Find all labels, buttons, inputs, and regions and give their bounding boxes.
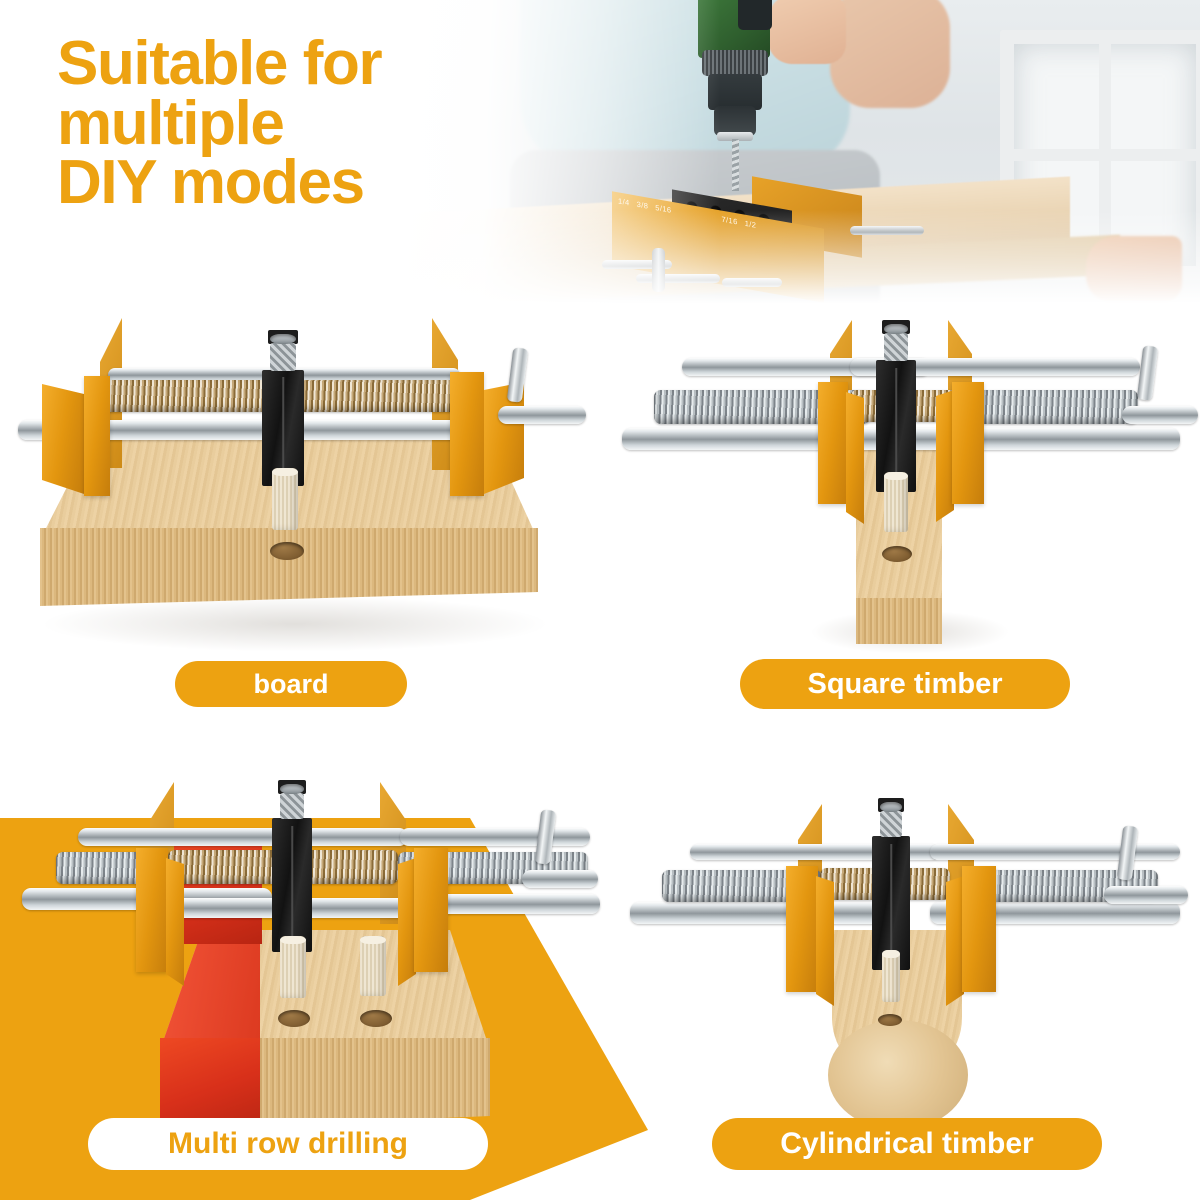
label-square-timber[interactable]: Square timber: [740, 659, 1070, 709]
log-end-grain: [828, 1020, 968, 1130]
headline-line-2: multiple: [57, 94, 597, 154]
guide-rod-upper-right: [400, 828, 590, 846]
wooden-dowel-1: [280, 936, 306, 998]
jig-render-multi-row: [0, 770, 600, 1170]
board-front-edge: [18, 528, 538, 606]
clamp-handle: [507, 347, 528, 402]
clamp-jaw-left-inner: [166, 858, 184, 986]
guide-rod-upper: [78, 828, 408, 846]
jig-render-cylindrical: [600, 770, 1200, 1170]
label-board[interactable]: board: [175, 661, 407, 707]
photo-person-hand: [768, 0, 846, 64]
clamp-jaw-left: [786, 866, 818, 992]
guide-rod-lower-left: [630, 902, 880, 924]
handle-shaft: [522, 870, 598, 888]
clamp-jaw-left-inner: [84, 376, 110, 496]
clamp-jaw-left-inner: [846, 392, 864, 524]
clamp-jaw-left: [42, 384, 84, 494]
guide-rod-upper-right: [930, 844, 1180, 860]
drilled-hole: [878, 1014, 902, 1026]
panel-square-timber: [600, 310, 1200, 710]
guide-bushing: [884, 333, 908, 361]
handle-shaft: [1104, 886, 1188, 904]
board-shadow: [40, 596, 550, 652]
clamp-jaw-left-inner: [816, 876, 834, 1006]
guide-bushing: [270, 343, 296, 371]
wooden-dowel-2: [360, 936, 386, 996]
guide-bushing: [880, 811, 902, 837]
wooden-dowel: [272, 468, 298, 530]
clamp-jaw-right: [962, 866, 996, 992]
clamp-handle: [1137, 345, 1158, 400]
drilled-hole: [270, 542, 304, 560]
drill-bit: [732, 139, 739, 191]
clamp-jaw-right: [952, 382, 984, 504]
headline-line-3: DIY modes: [57, 153, 597, 213]
jig-render-board: [0, 310, 600, 650]
clamp-jaw-right-inner: [450, 372, 484, 496]
wooden-dowel: [882, 950, 900, 1002]
wooden-dowel: [884, 472, 908, 532]
label-cylindrical-timber[interactable]: Cylindrical timber: [712, 1118, 1102, 1170]
drilled-hole-2: [360, 1010, 392, 1027]
infographic-canvas: 1/4 3/8 5/16 7/16 1/2 Suitable for multi…: [0, 0, 1200, 1200]
headline-line-1: Suitable for: [57, 34, 597, 94]
page-title: Suitable for multiple DIY modes: [57, 34, 597, 213]
jig-render-square-timber: [600, 310, 1200, 660]
clamp-jaw-left: [136, 848, 168, 972]
threaded-rod-right: [968, 390, 1138, 424]
drill-guide-block: [272, 818, 312, 952]
drill-rear-housing: [738, 0, 772, 30]
panel-board: [0, 310, 600, 710]
guide-bushing: [280, 793, 304, 819]
drilled-hole: [882, 546, 912, 562]
photo-person-arm: [830, 0, 950, 108]
label-multi-row-drilling[interactable]: Multi row drilling: [88, 1118, 488, 1170]
clamp-jaw-left: [818, 382, 848, 504]
square-timber-end: [856, 598, 942, 644]
handle-shaft: [498, 406, 586, 424]
handle-shaft: [1122, 406, 1198, 424]
clamp-jaw-right: [414, 848, 448, 972]
drilled-hole-1: [278, 1010, 310, 1027]
